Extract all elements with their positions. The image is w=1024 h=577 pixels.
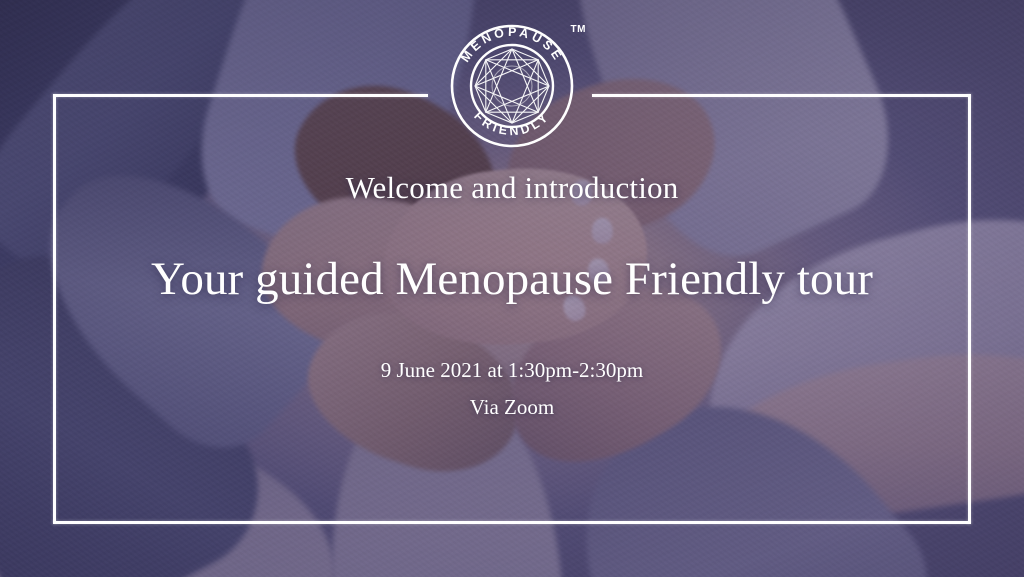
event-datetime: 9 June 2021 at 1:30pm-2:30pm (381, 358, 643, 382)
trademark-icon: TM (571, 24, 586, 35)
slide-eyebrow: Welcome and introduction (0, 170, 1024, 206)
slide-meta: 9 June 2021 at 1:30pm-2:30pm Via Zoom (0, 355, 1024, 422)
slide-content: Welcome and introduction Your guided Men… (0, 170, 1024, 422)
logo-mark-icon: MENOPAUSE FRIENDLY (444, 18, 580, 154)
event-slide: MENOPAUSE FRIENDLY TM Welcome and introd… (0, 0, 1024, 577)
slide-headline: Your guided Menopause Friendly tour (0, 254, 1024, 306)
event-venue: Via Zoom (0, 392, 1024, 422)
menopause-friendly-logo: MENOPAUSE FRIENDLY TM (444, 18, 580, 154)
